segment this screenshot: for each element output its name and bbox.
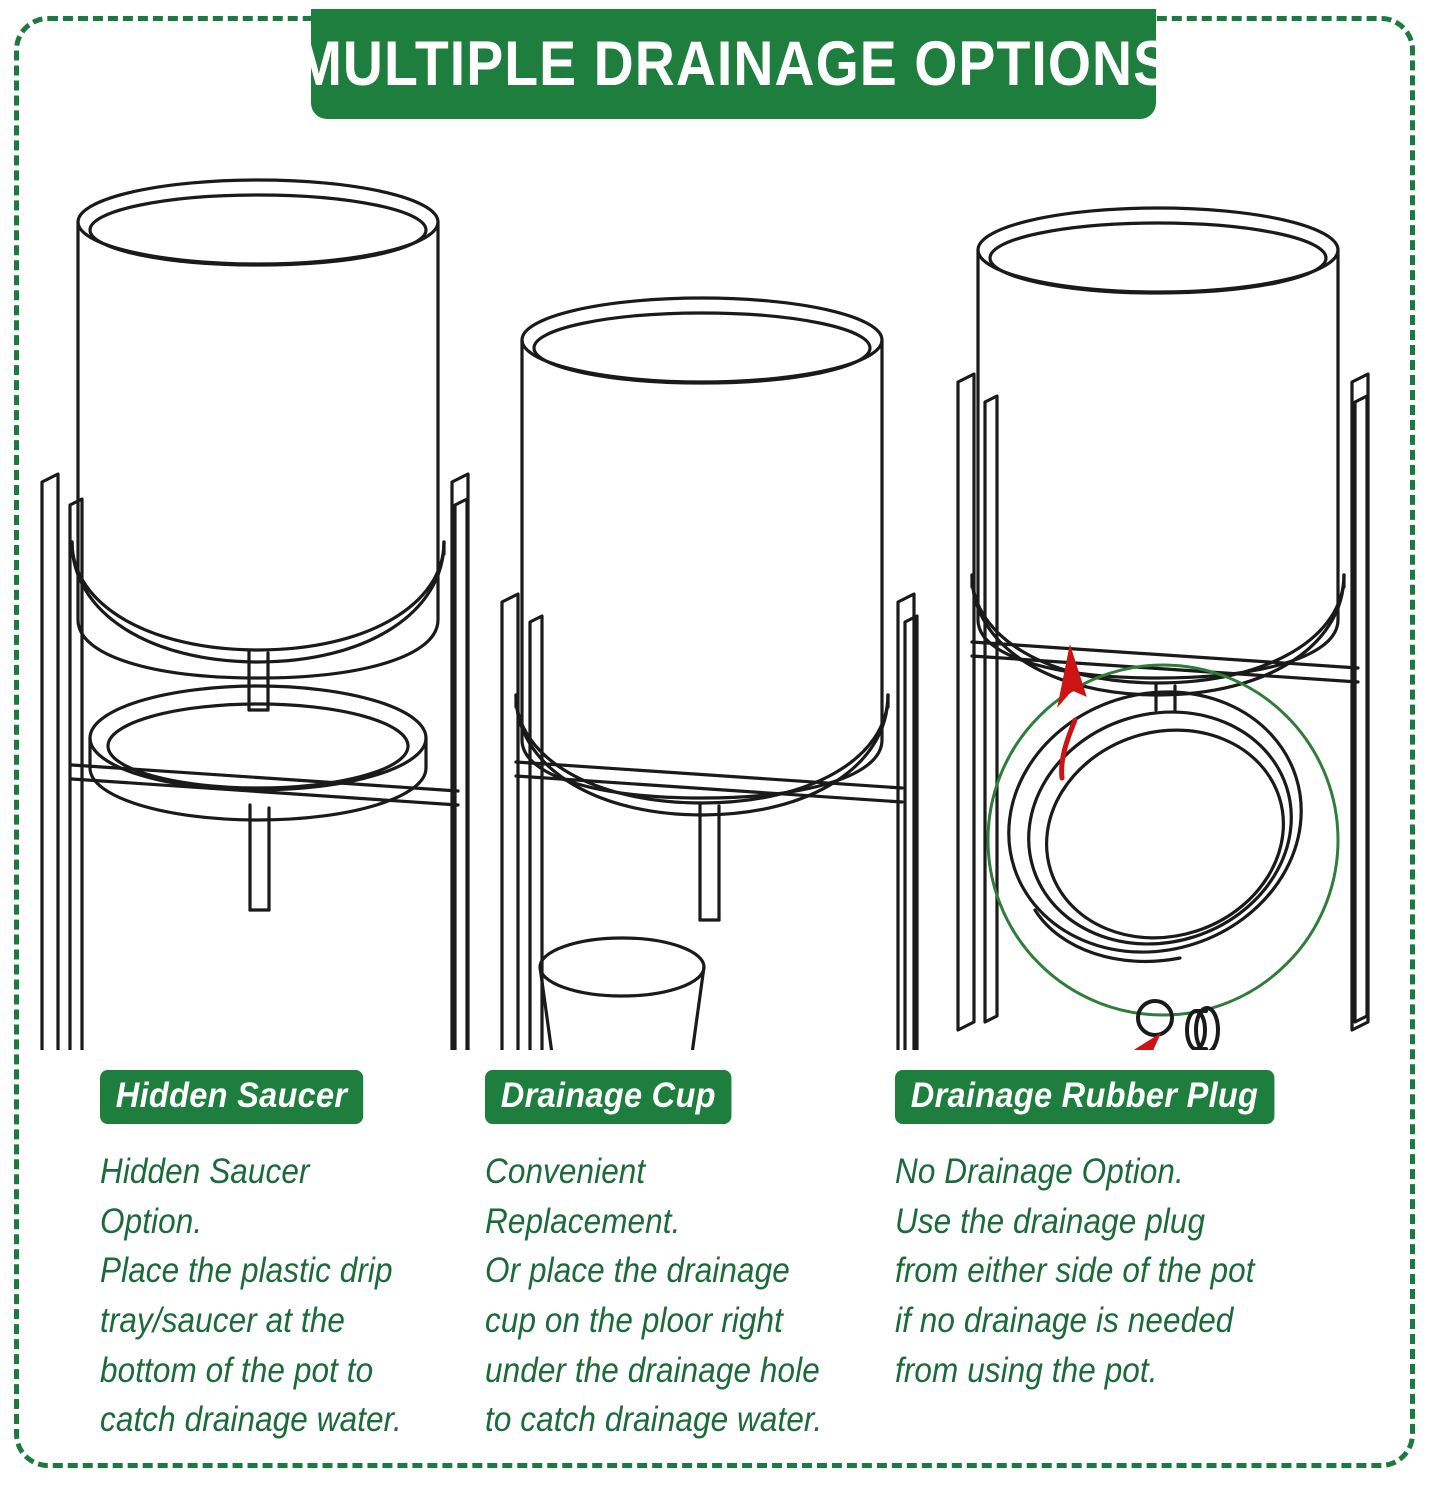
column-drainage-cup: Drainage Cup Convenient Replacement. Or …	[440, 1070, 880, 1470]
description-drainage-cup: Convenient Replacement. Or place the dra…	[485, 1147, 841, 1445]
stand-front-legs-2	[502, 594, 914, 1050]
caption-columns: Hidden Saucer Hidden Saucer Option. Plac…	[0, 1070, 1445, 1470]
column-rubber-plug: Drainage Rubber Plug No Drainage Option.…	[880, 1070, 1445, 1470]
badge-hidden-saucer: Hidden Saucer	[100, 1070, 363, 1124]
line-art-svg	[0, 150, 1445, 1050]
infographic-page: MULTIPLE DRAINAGE OPTIONS	[0, 0, 1445, 1490]
description-hidden-saucer: Hidden Saucer Option. Place the plastic …	[100, 1147, 406, 1445]
description-rubber-plug: No Drainage Option. Use the drainage plu…	[895, 1147, 1390, 1395]
figure-rubber-plug	[958, 208, 1368, 1050]
magnifier-circle	[988, 665, 1338, 1015]
center-post-2	[700, 803, 719, 920]
stand-rear-legs-2	[530, 616, 917, 1050]
stand-front-legs-3	[958, 374, 1368, 1030]
stand-rear-legs	[70, 499, 467, 1050]
badge-drainage-cup: Drainage Cup	[485, 1070, 732, 1124]
badge-drainage-rubber-plug: Drainage Rubber Plug	[895, 1070, 1274, 1124]
figure-hidden-saucer	[42, 180, 468, 1050]
pot-3	[978, 208, 1338, 678]
page-title: MULTIPLE DRAINAGE OPTIONS	[296, 33, 1171, 96]
red-arrow-pointing-to-pot-bottom	[1058, 646, 1086, 778]
header-banner: MULTIPLE DRAINAGE OPTIONS	[311, 9, 1156, 119]
pot	[78, 180, 438, 678]
rubber-plug	[1187, 1008, 1218, 1050]
stand-cradle-ring	[72, 542, 444, 662]
pot-2	[522, 298, 882, 798]
drainage-hole	[1138, 1001, 1172, 1035]
drainage-cup	[540, 938, 704, 1050]
figure-drainage-cup	[502, 298, 917, 1050]
column-hidden-saucer: Hidden Saucer Hidden Saucer Option. Plac…	[0, 1070, 440, 1470]
illustrations-area	[0, 150, 1445, 1050]
center-post-upper	[249, 650, 268, 710]
